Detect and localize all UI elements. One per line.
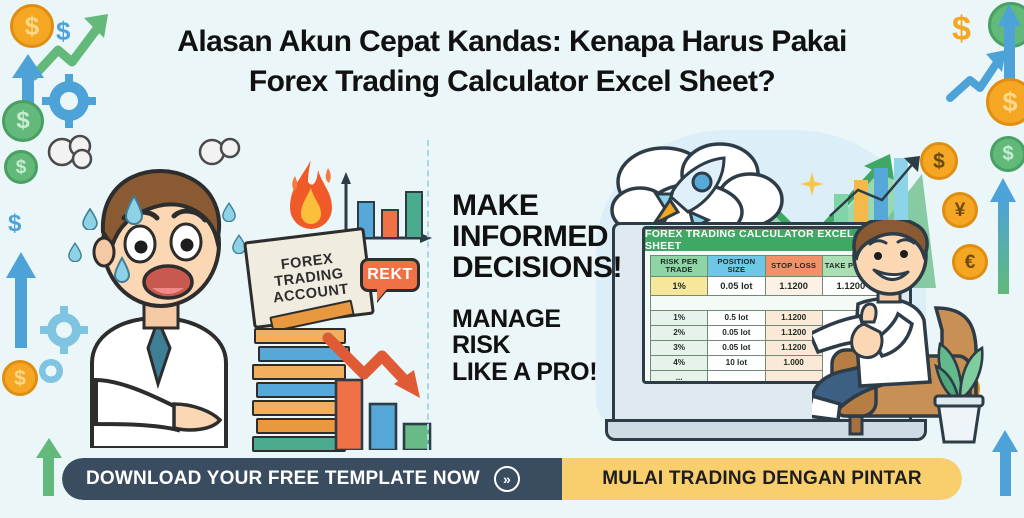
column-header-risk-per-trade: RISK PER TRADE [651, 256, 708, 277]
cell-position: 0.05 lot [708, 341, 765, 356]
call-to-action-banner[interactable]: DOWNLOAD YOUR FREE TEMPLATE NOW » MULAI … [62, 458, 962, 500]
winning-trader-illustration: FOREX TRADING CALCULATOR EXCEL SHEET RIS… [590, 130, 990, 450]
stressed-trader-figure [62, 148, 262, 448]
rocket-icon [650, 154, 736, 230]
banner-canvas: $ $ $ $ $ $ [0, 0, 1024, 518]
column-header-position-size: POSITION SIZE [708, 256, 765, 277]
dollar-coin-icon: $ [2, 100, 44, 142]
dollar-symbol-icon: $ [8, 212, 21, 236]
dollar-coin-icon: $ [990, 136, 1024, 172]
cell-position: 0.05 lot [708, 277, 765, 296]
value-proposition-text: MAKE INFORMED DECISIONS! MANAGE RISK LIK… [452, 190, 622, 385]
subheadline-line-2: RISK [452, 332, 622, 359]
subheadline-line-3: LIKE A PRO! [452, 359, 622, 386]
cell-risk: 1% [651, 277, 708, 296]
cell-risk: 2% [651, 326, 708, 341]
download-button-label: DOWNLOAD YOUR FREE TEMPLATE NOW [86, 468, 480, 490]
cell-position: 0.05 lot [708, 326, 765, 341]
cell-position: 0.5 lot [708, 311, 765, 326]
title-line-1: Alasan Akun Cepat Kandas: Kenapa Harus P… [0, 22, 1024, 62]
up-arrow-icon [988, 176, 1018, 296]
title-line-2: Forex Trading Calculator Excel Sheet? [0, 62, 1024, 102]
banner-title: Alasan Akun Cepat Kandas: Kenapa Harus P… [0, 22, 1024, 101]
section-divider [427, 140, 429, 450]
dollar-coin-icon: $ [2, 360, 38, 396]
bar-chart-icon [332, 372, 436, 450]
cell-risk: 3% [651, 341, 708, 356]
subheadline-line-1: MANAGE [452, 306, 622, 333]
cell-position: 10 lot [708, 356, 765, 371]
up-arrow-icon [4, 250, 38, 350]
currency-symbol: $ [16, 109, 29, 133]
cell-position [708, 371, 765, 385]
bar-chart-icon [828, 154, 924, 224]
up-arrow-icon [990, 428, 1020, 498]
start-trading-button[interactable]: MULAI TRADING DENGAN PINTAR [562, 458, 962, 500]
headline-line-2: INFORMED [452, 221, 622, 252]
dollar-coin-icon: $ [4, 150, 38, 184]
cell-risk: 1% [651, 311, 708, 326]
currency-symbol: $ [1002, 144, 1013, 164]
headline-line-1: MAKE [452, 190, 622, 221]
rekt-label: REKT [367, 266, 413, 284]
plant-icon [926, 326, 992, 446]
download-template-button[interactable]: DOWNLOAD YOUR FREE TEMPLATE NOW » [62, 458, 562, 500]
start-trading-label: MULAI TRADING DENGAN PINTAR [602, 468, 922, 490]
headline-line-3: DECISIONS! [452, 252, 622, 283]
double-chevron-right-icon[interactable]: » [494, 466, 520, 492]
headline-spacer [452, 284, 622, 306]
losing-trader-illustration: FOREX TRADING ACCOUNT REKT [40, 130, 430, 450]
cell-risk: 4% [651, 356, 708, 371]
currency-symbol: $ [16, 158, 27, 177]
rekt-badge: REKT [360, 258, 420, 292]
currency-symbol: $ [14, 368, 26, 389]
fire-icon [284, 158, 338, 236]
cell-ellipsis: ... [651, 371, 708, 385]
